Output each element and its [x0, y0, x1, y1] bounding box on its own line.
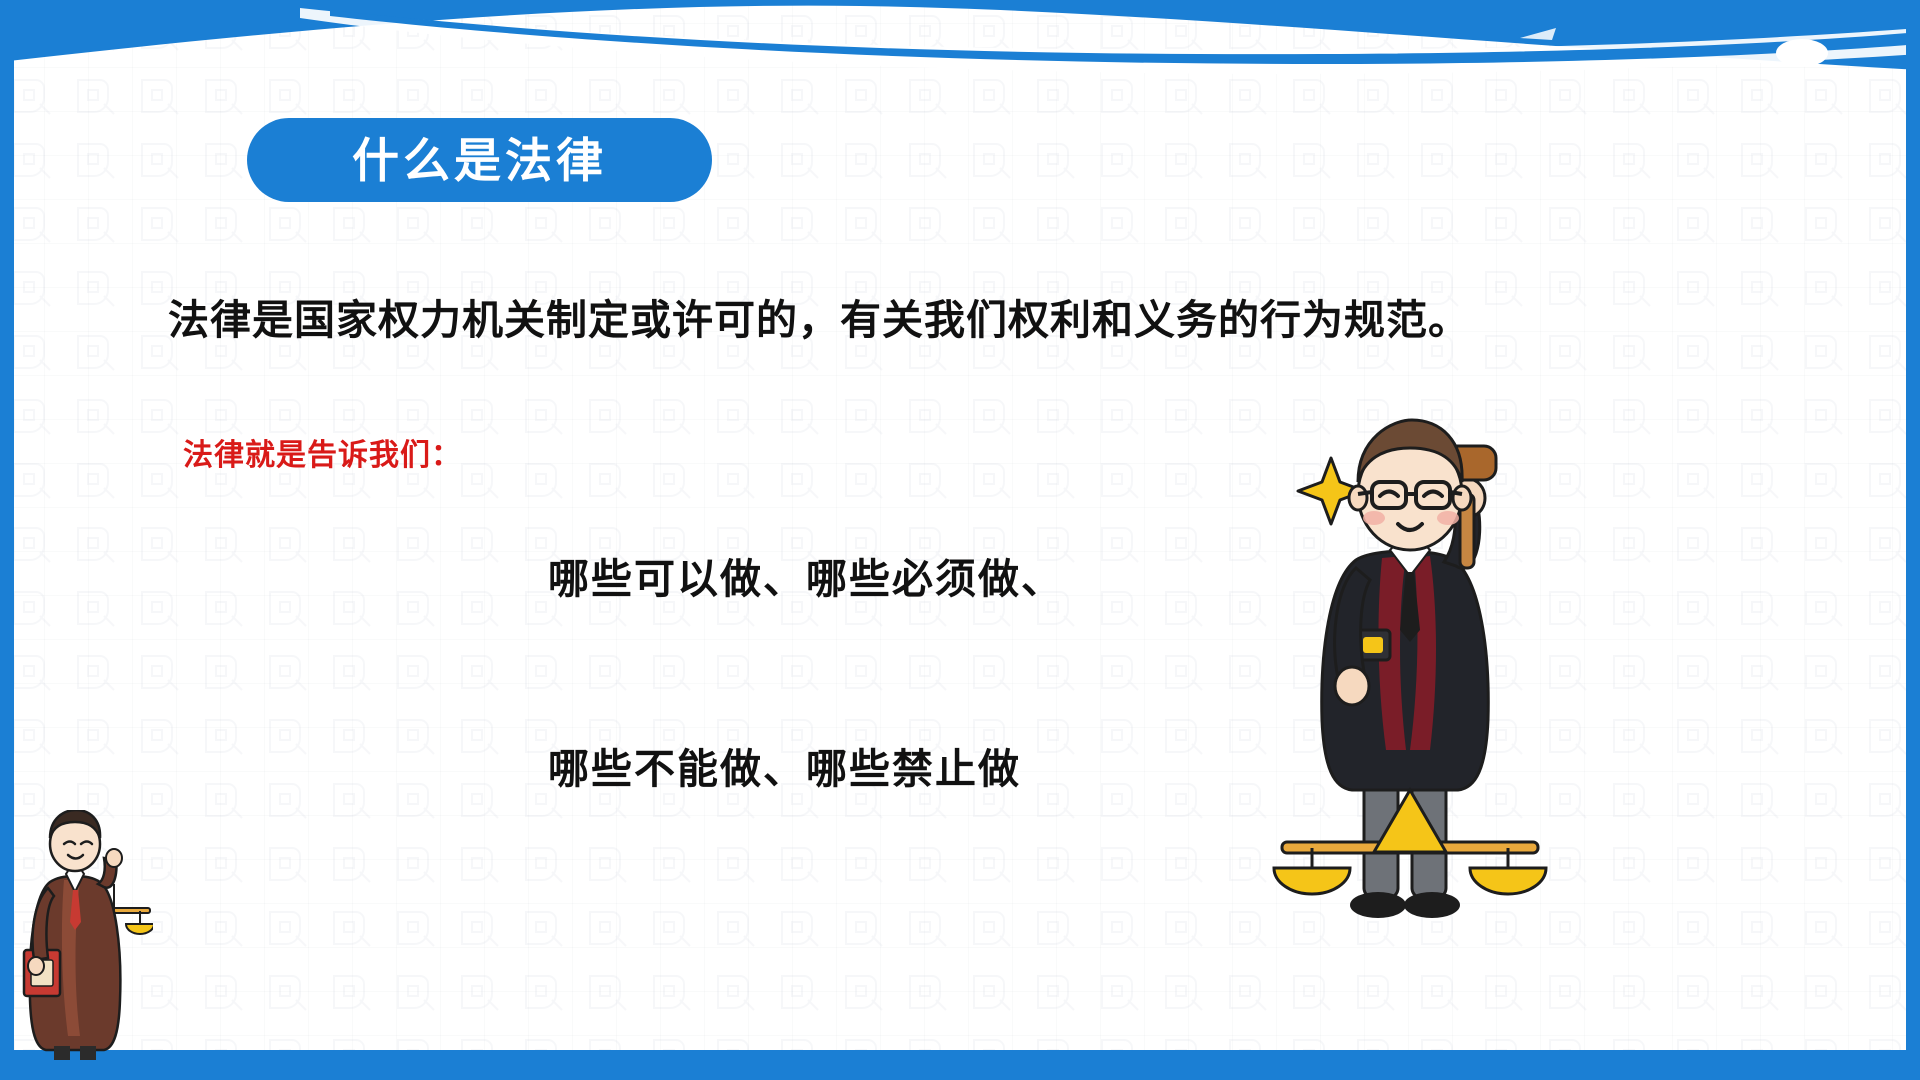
left-border-bar	[0, 0, 14, 1080]
slide-canvas: 什么是法律 法律是国家权力机关制定或许可的，有关我们权利和义务的行为规范。 法律…	[0, 0, 1920, 1080]
balance-scales-icon	[1274, 790, 1546, 894]
lead-paragraph: 法律是国家权力机关制定或许可的，有关我们权利和义务的行为规范。	[168, 286, 1688, 346]
judge-illustration-small	[18, 810, 153, 1060]
bottom-border-bar	[0, 1050, 1920, 1080]
slide-title-pill: 什么是法律	[247, 118, 712, 202]
right-border-bar	[1906, 0, 1920, 1080]
content-line-1: 哪些可以做、哪些必须做、	[548, 545, 1064, 605]
top-wave-decoration	[0, 0, 1920, 112]
content-line-2: 哪些不能做、哪些禁止做	[548, 735, 1021, 795]
judge-illustration-main	[1260, 390, 1560, 960]
red-subtitle: 法律就是告诉我们：	[183, 430, 462, 474]
slide-title-text: 什么是法律	[352, 137, 607, 184]
